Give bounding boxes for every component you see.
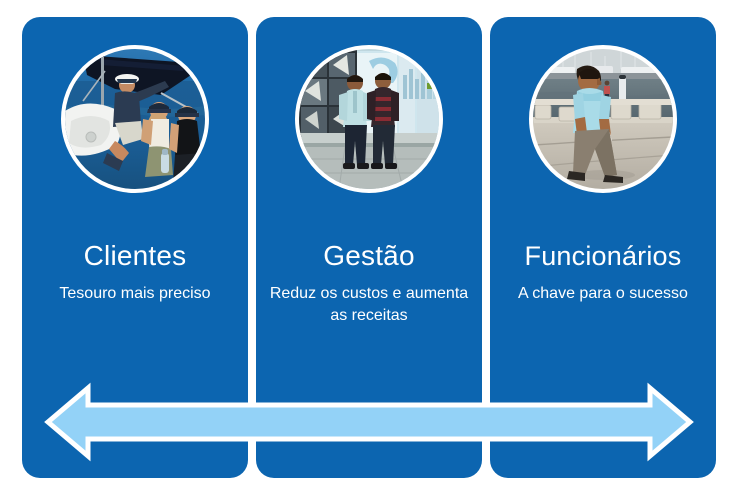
panel-subtitle: Tesouro mais preciso bbox=[30, 283, 240, 305]
photo-frame-gestao bbox=[295, 45, 443, 193]
panel-clientes[interactable]: Clientes Tesouro mais preciso bbox=[22, 17, 248, 478]
panel-text-funcionarios: Funcionários A chave para o sucesso bbox=[490, 239, 716, 305]
diagram-canvas: Clientes Tesouro mais preciso bbox=[0, 0, 742, 496]
panel-row: Clientes Tesouro mais preciso bbox=[22, 17, 716, 478]
panel-gestao[interactable]: Gestão Reduz os custos e aumenta as rece… bbox=[256, 17, 482, 478]
panel-subtitle: Reduz os custos e aumenta as receitas bbox=[264, 283, 474, 327]
panel-text-clientes: Clientes Tesouro mais preciso bbox=[22, 239, 248, 305]
panel-funcionarios[interactable]: Funcionários A chave para o sucesso bbox=[490, 17, 716, 478]
photo-man-walking-at-marina bbox=[533, 49, 673, 189]
panel-title: Funcionários bbox=[498, 239, 708, 273]
panel-text-gestao: Gestão Reduz os custos e aumenta as rece… bbox=[256, 239, 482, 327]
photo-frame-funcionarios bbox=[529, 45, 677, 193]
panel-title: Gestão bbox=[264, 239, 474, 273]
photo-two-men-in-office bbox=[299, 49, 439, 189]
panel-subtitle: A chave para o sucesso bbox=[498, 283, 708, 305]
photo-people-on-sailboat bbox=[65, 49, 205, 189]
photo-frame-clientes bbox=[61, 45, 209, 193]
panel-title: Clientes bbox=[30, 239, 240, 273]
